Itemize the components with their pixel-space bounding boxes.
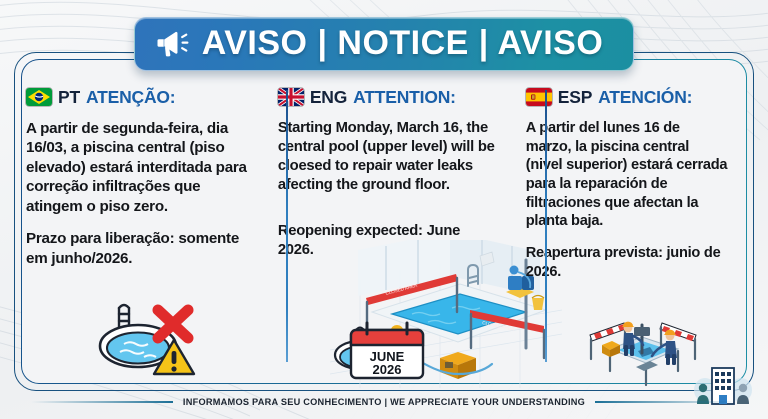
footer-rule-right	[595, 401, 737, 403]
lang-code-esp: ESP	[558, 87, 592, 108]
column-header-eng: ENG ATTENTION:	[278, 86, 495, 108]
notice-columns: PT ATENÇÃO: A partir de segunda-feira, d…	[26, 86, 742, 376]
column-divider-1	[286, 90, 288, 362]
banner-container: AVISO | NOTICE | AVISO	[0, 17, 768, 71]
attention-label-pt: ATENÇÃO:	[86, 87, 175, 108]
notice-paragraph-eng-1: Starting Monday, March 16, the central p…	[278, 119, 495, 195]
column-divider-2	[545, 90, 547, 362]
notice-column-pt: PT ATENÇÃO: A partir de segunda-feira, d…	[26, 86, 261, 376]
attention-label-eng: ATTENTION:	[353, 87, 456, 108]
footer-text: INFORMAMOS PARA SEU CONHECIMENTO | WE AP…	[183, 397, 585, 407]
lang-code-pt: PT	[58, 87, 80, 108]
megaphone-icon	[157, 28, 191, 58]
footer: INFORMAMOS PARA SEU CONHECIMENTO | WE AP…	[0, 397, 768, 407]
spacer	[278, 208, 495, 222]
notice-paragraph-eng-2: Reopening expected: June 2026.	[278, 222, 495, 260]
spain-flag-icon	[526, 88, 552, 106]
footer-rule-left	[31, 401, 173, 403]
notice-paragraph-esp-1: A partir del lunes 16 de marzo, la pisci…	[526, 119, 728, 231]
banner-title: AVISO | NOTICE | AVISO	[202, 26, 604, 60]
notice-banner: AVISO | NOTICE | AVISO	[134, 17, 635, 71]
lang-code-eng: ENG	[310, 87, 347, 108]
notice-paragraph-pt-1: A partir de segunda-feira, dia 16/03, a …	[26, 119, 247, 216]
attention-label-esp: ATENCIÓN:	[598, 87, 692, 108]
notice-paragraph-pt-2: Prazo para liberação: somente em junho/2…	[26, 229, 247, 268]
column-header-pt: PT ATENÇÃO:	[26, 86, 247, 108]
notice-column-eng: ENG ATTENTION: Starting Monday, March 16…	[261, 86, 509, 376]
brazil-flag-icon	[26, 88, 52, 106]
uk-flag-icon	[278, 88, 304, 106]
notice-paragraph-esp-2: Reapertura prevista: junio de 2026.	[526, 244, 728, 281]
column-header-esp: ESP ATENCIÓN:	[526, 86, 728, 108]
notice-column-esp: ESP ATENCIÓN: A partir del lunes 16 de m…	[509, 86, 742, 376]
